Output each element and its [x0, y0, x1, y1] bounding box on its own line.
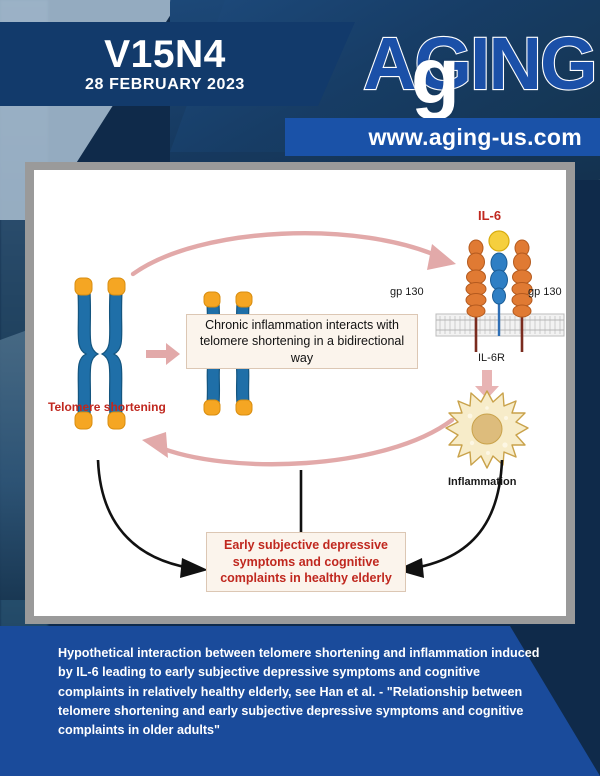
pink-arrow-top-curve: [130, 228, 470, 288]
aging-logo-g-overlay: g: [411, 36, 460, 116]
center-info-text: Chronic inflammation interacts with telo…: [197, 317, 407, 367]
outcome-box: Early subjective depressive symptoms and…: [206, 532, 406, 592]
il6r-label: IL-6R: [478, 352, 505, 364]
il6-label: IL-6: [478, 208, 501, 223]
issue-banner: V15N4 28 FEBRUARY 2023: [0, 22, 355, 106]
telomere-shortening-label: Telomere shortening: [48, 400, 166, 414]
pink-arrow-chromosome: [146, 342, 182, 366]
outcome-text: Early subjective depressive symptoms and…: [215, 537, 397, 587]
figure-panel: Telomere shortening Chronic inflammation…: [34, 170, 566, 616]
issue-volume: V15N4: [104, 35, 226, 74]
black-arrow-left-curve: [94, 458, 214, 588]
black-arrow-right-curve: [390, 458, 510, 588]
gp130-right-label: gp 130: [528, 286, 562, 298]
caption-text: Hypothetical interaction between telomer…: [58, 644, 548, 740]
aging-logo: AGING g: [363, 16, 589, 111]
gp130-left-label: gp 130: [390, 286, 424, 298]
issue-date: 28 FEBRUARY 2023: [85, 77, 245, 93]
aging-logo-text: AGING: [363, 22, 596, 105]
center-info-box: Chronic inflammation interacts with telo…: [186, 314, 418, 369]
poster-canvas: V15N4 28 FEBRUARY 2023 AGING g www.aging…: [0, 0, 600, 776]
website-url[interactable]: www.aging-us.com: [368, 118, 582, 156]
